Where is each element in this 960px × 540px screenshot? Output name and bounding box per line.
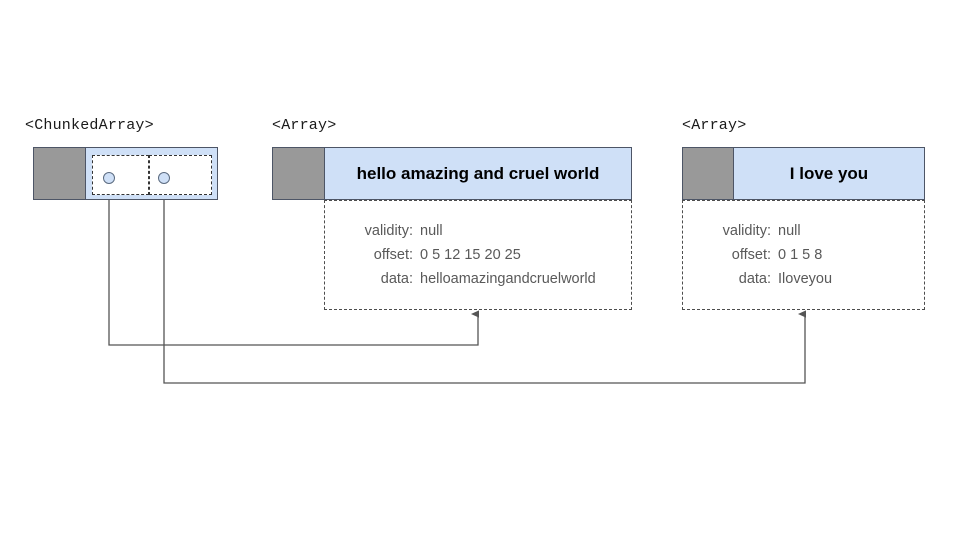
array-right-field-validity: validity: null	[697, 219, 914, 243]
array-left-field-data: data: helloamazingandcruelworld	[339, 267, 621, 291]
array-right-type-label: <Array>	[682, 117, 746, 134]
array-left-field-validity: validity: null	[339, 219, 621, 243]
chunk-ref-0-handle[interactable]	[103, 172, 115, 184]
array-right-node[interactable]: I love you	[682, 147, 925, 200]
array-right-field-data-key: data:	[697, 267, 778, 291]
array-right-field-data: data: Iloveyou	[697, 267, 914, 291]
array-left-field-validity-value: null	[420, 219, 621, 243]
array-right-field-data-value: Iloveyou	[778, 267, 914, 291]
array-left-value: hello amazing and cruel world	[325, 148, 631, 199]
array-right-field-offset-key: offset:	[697, 243, 778, 267]
array-left-field-offset: offset: 0 5 12 15 20 25	[339, 243, 621, 267]
array-left-field-data-key: data:	[339, 267, 420, 291]
array-left-field-data-value: helloamazingandcruelworld	[420, 267, 621, 291]
array-right-field-offset: offset: 0 1 5 8	[697, 243, 914, 267]
array-right-value: I love you	[734, 148, 924, 199]
array-right-field-offset-value: 0 1 5 8	[778, 243, 914, 267]
array-left-gray-block	[273, 148, 325, 199]
array-left-field-offset-key: offset:	[339, 243, 420, 267]
chunkedarray-gray-block	[34, 148, 86, 199]
array-right-field-validity-value: null	[778, 219, 914, 243]
array-left-detail-box: validity: null offset: 0 5 12 15 20 25 d…	[324, 200, 632, 310]
array-right-field-validity-key: validity:	[697, 219, 778, 243]
array-right-gray-block	[683, 148, 734, 199]
array-left-field-offset-value: 0 5 12 15 20 25	[420, 243, 621, 267]
array-right-detail-box: validity: null offset: 0 1 5 8 data: Ilo…	[682, 200, 925, 310]
diagram-canvas: <ChunkedArray> <Array> hello amazing and…	[0, 0, 960, 540]
array-left-node[interactable]: hello amazing and cruel world	[272, 147, 632, 200]
chunkedarray-type-label: <ChunkedArray>	[25, 117, 154, 134]
array-left-field-validity-key: validity:	[339, 219, 420, 243]
array-left-type-label: <Array>	[272, 117, 336, 134]
chunk-ref-0-cell[interactable]	[92, 155, 149, 195]
chunk-ref-1-handle[interactable]	[158, 172, 170, 184]
